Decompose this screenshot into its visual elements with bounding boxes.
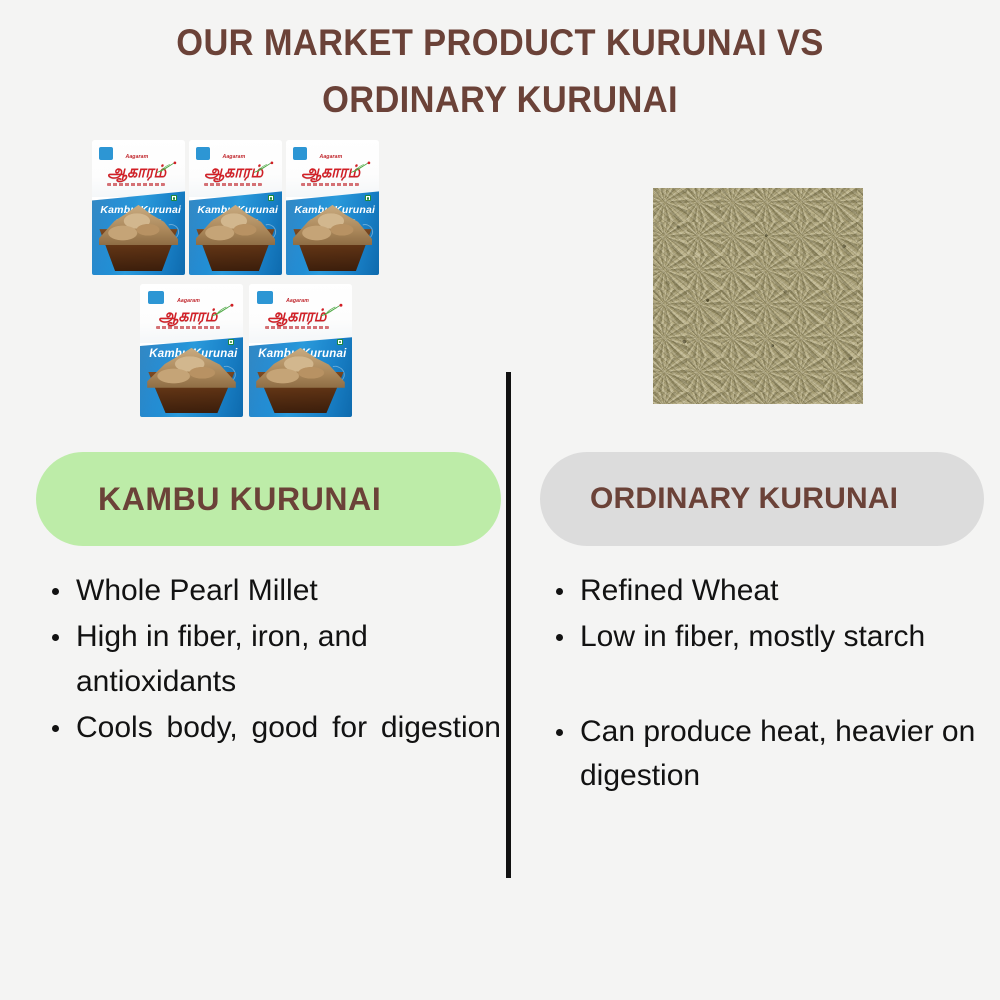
ordinary-kurunai-drawback-list: Refined Wheat Low in fiber, mostly starc…	[540, 569, 984, 799]
list-item-text: Cools body, good for digestion	[76, 706, 501, 750]
vegetarian-mark-icon	[171, 195, 177, 201]
product-packet-gallery: Aagaram ஆகாரம் Kambu Kurunai கம்பு குருண…	[92, 140, 392, 417]
vegetarian-mark-icon	[337, 339, 343, 345]
packet-tagline	[107, 183, 165, 186]
packet-tab	[196, 147, 210, 161]
product-packet[interactable]: Aagaram ஆகாரம் Kambu Kurunai கம்பு குருண…	[92, 140, 185, 275]
packet-row-top: Aagaram ஆகாரம் Kambu Kurunai கம்பு குருண…	[92, 140, 392, 275]
packet-tab	[148, 291, 163, 304]
product-packet[interactable]: Aagaram ஆகாரம் Kambu Kurunai கம்பு குருண…	[286, 140, 379, 275]
list-item: Cools body, good for digestion	[36, 706, 501, 795]
ordinary-kurunai-photo	[653, 188, 863, 404]
list-item-text: High in fiber, iron, and antioxidants	[76, 620, 368, 697]
packet-brand-latin: Aagaram	[222, 154, 245, 160]
list-item: Can produce heat, heavier on digestion	[540, 710, 984, 799]
packet-brand-latin: Aagaram	[177, 298, 200, 304]
packet-brand-latin: Aagaram	[319, 154, 342, 160]
packet-tagline	[156, 326, 220, 329]
list-item: Refined Wheat	[540, 569, 984, 613]
page-title: OUR MARKET PRODUCT KURUNAI VS ORDINARY K…	[0, 14, 1000, 129]
list-item-text: Whole Pearl Millet	[76, 574, 318, 607]
list-item: High in fiber, iron, and antioxidants	[36, 615, 501, 704]
product-packet[interactable]: Aagaram ஆகாரம் Kambu Kurunai கம்பு குருண…	[189, 140, 282, 275]
list-item-text: Refined Wheat	[580, 574, 778, 607]
wheat-sprig-icon	[320, 301, 343, 320]
packet-tab	[257, 291, 272, 304]
list-item: Low in fiber, mostly starch	[540, 615, 984, 659]
kambu-kurunai-label-pill: KAMBU KURUNAI	[36, 452, 501, 546]
packet-tab	[99, 147, 113, 161]
ordinary-kurunai-label: ORDINARY KURUNAI	[590, 482, 898, 516]
vegetarian-mark-icon	[228, 339, 234, 345]
kambu-kurunai-label: KAMBU KURUNAI	[98, 481, 381, 518]
wheat-sprig-icon	[211, 301, 234, 320]
comparison-column-left: KAMBU KURUNAI Whole Pearl Millet High in…	[36, 452, 501, 797]
comparison-column-right: ORDINARY KURUNAI Refined Wheat Low in fi…	[540, 452, 984, 801]
list-item-text: Can produce heat, heavier on digestion	[580, 715, 975, 792]
kambu-kurunai-benefit-list: Whole Pearl Millet High in fiber, iron, …	[36, 569, 501, 795]
product-packet[interactable]: Aagaram ஆகாரம் Kambu Kurunai கம்பு குருண…	[140, 284, 243, 417]
wheat-sprig-icon	[350, 158, 370, 177]
packet-tagline	[301, 183, 359, 186]
packet-tagline	[204, 183, 262, 186]
vegetarian-mark-icon	[365, 195, 371, 201]
wheat-sprig-icon	[156, 158, 176, 177]
wheat-sprig-icon	[253, 158, 273, 177]
product-packet[interactable]: Aagaram ஆகாரம் Kambu Kurunai கம்பு குருண…	[249, 284, 352, 417]
list-item: Whole Pearl Millet	[36, 569, 501, 613]
column-divider	[506, 372, 511, 878]
packet-brand-latin: Aagaram	[286, 298, 309, 304]
packet-tab	[293, 147, 307, 161]
packet-tagline	[265, 326, 329, 329]
packet-brand-latin: Aagaram	[125, 154, 148, 160]
packet-row-bottom: Aagaram ஆகாரம் Kambu Kurunai கம்பு குருண…	[140, 284, 392, 417]
page-title-line-2: ORDINARY KURUNAI	[35, 71, 965, 128]
infographic-page: { "background_color": "#f4f4f3", "header…	[0, 0, 1000, 1000]
ordinary-kurunai-label-pill: ORDINARY KURUNAI	[540, 452, 984, 546]
vegetarian-mark-icon	[268, 195, 274, 201]
page-title-line-1: OUR MARKET PRODUCT KURUNAI VS	[35, 14, 965, 71]
list-item-text: Low in fiber, mostly starch	[580, 620, 925, 653]
